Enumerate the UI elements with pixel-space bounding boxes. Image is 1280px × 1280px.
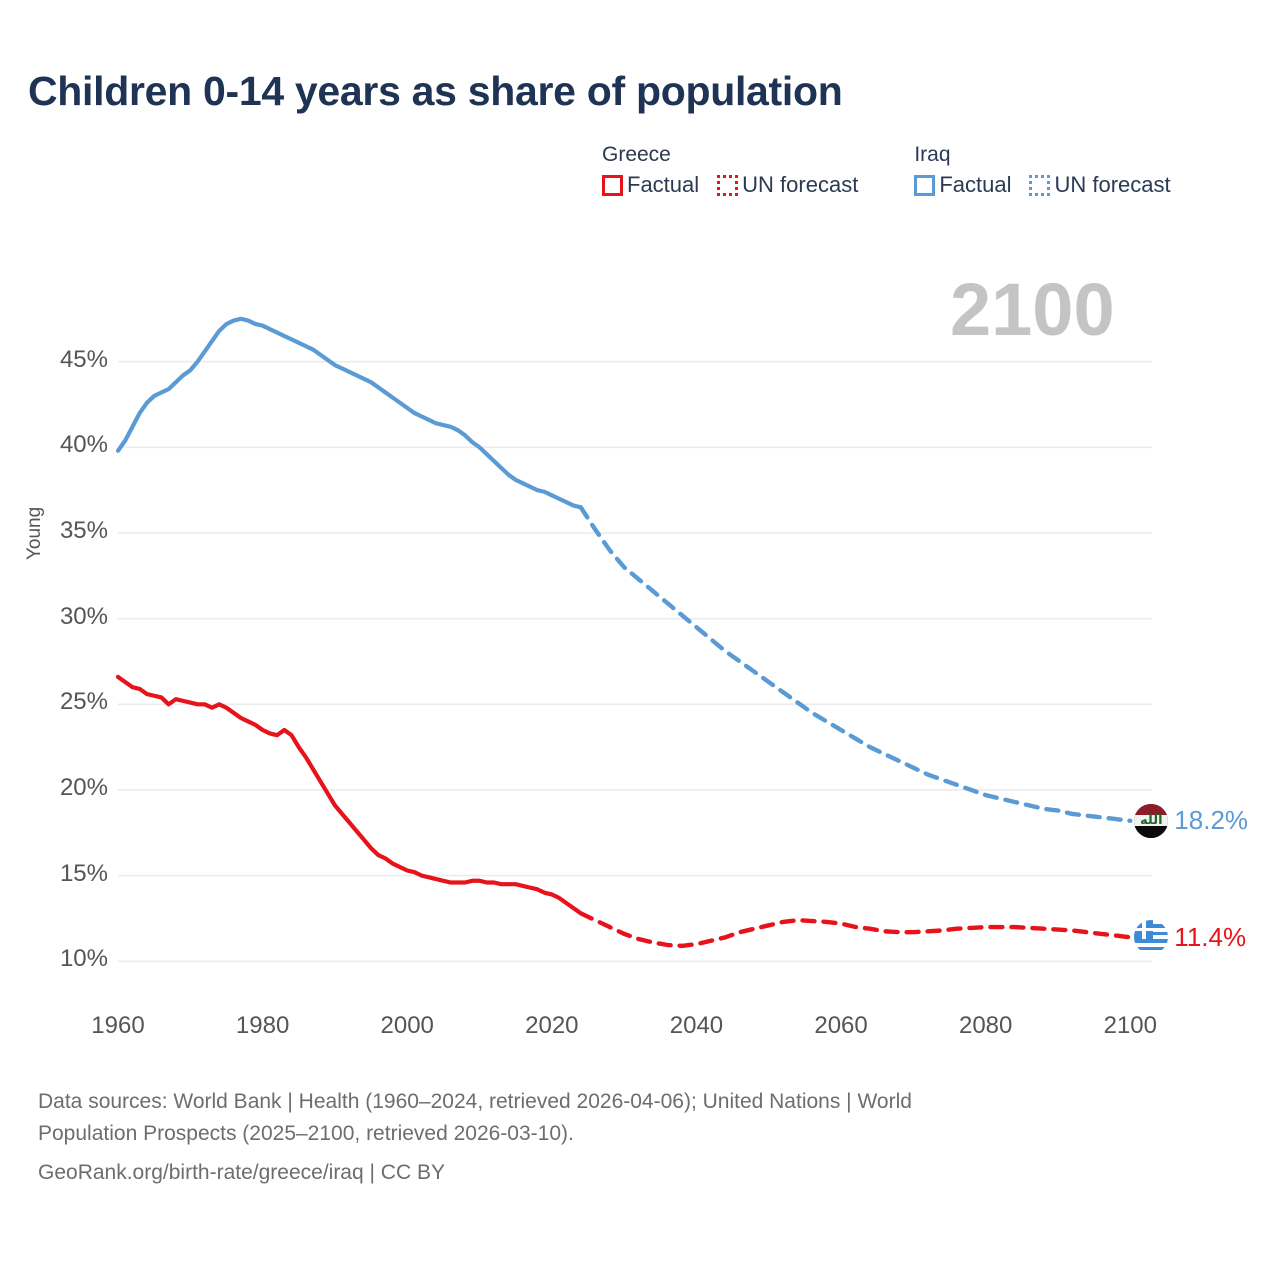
series-line-iraq-un-forecast	[581, 507, 1131, 821]
footer-line-1: Data sources: World Bank | Health (1960–…	[38, 1086, 1218, 1118]
footer-line-3[interactable]: GeoRank.org/birth-rate/greece/iraq | CC …	[38, 1157, 1218, 1189]
y-tick-35: 35%	[18, 517, 108, 545]
x-tick-2100: 2100	[1075, 1012, 1185, 1040]
y-tick-25: 25%	[18, 688, 108, 716]
x-tick-1980: 1980	[208, 1012, 318, 1040]
y-tick-30: 30%	[18, 603, 108, 631]
x-tick-2040: 2040	[641, 1012, 751, 1040]
series-lines	[118, 319, 1130, 946]
x-tick-2060: 2060	[786, 1012, 896, 1040]
y-tick-20: 20%	[18, 774, 108, 802]
y-tick-10: 10%	[18, 945, 108, 973]
chart-page: Children 0-14 years as share of populati…	[0, 0, 1280, 1280]
y-tick-40: 40%	[18, 431, 108, 459]
greece-flag-icon	[1134, 920, 1168, 954]
end-label-greece: 11.4%	[1134, 920, 1246, 954]
y-tick-45: 45%	[18, 346, 108, 374]
x-tick-1960: 1960	[63, 1012, 173, 1040]
series-line-greece-factual	[118, 677, 581, 913]
y-tick-15: 15%	[18, 860, 108, 888]
footer-sources: Data sources: World Bank | Health (1960–…	[38, 1086, 1218, 1189]
end-value-greece: 11.4%	[1174, 922, 1246, 953]
footer-line-2: Population Prospects (2025–2100, retriev…	[38, 1118, 1218, 1150]
x-tick-2020: 2020	[497, 1012, 607, 1040]
series-line-greece-un-forecast	[581, 913, 1131, 946]
end-value-iraq: 18.2%	[1174, 805, 1248, 836]
iraq-flag-icon: الله	[1134, 804, 1168, 838]
series-line-iraq-factual	[118, 319, 581, 507]
gridlines	[118, 362, 1152, 962]
x-tick-2000: 2000	[352, 1012, 462, 1040]
end-label-iraq: الله 18.2%	[1134, 804, 1248, 838]
x-tick-2080: 2080	[931, 1012, 1041, 1040]
